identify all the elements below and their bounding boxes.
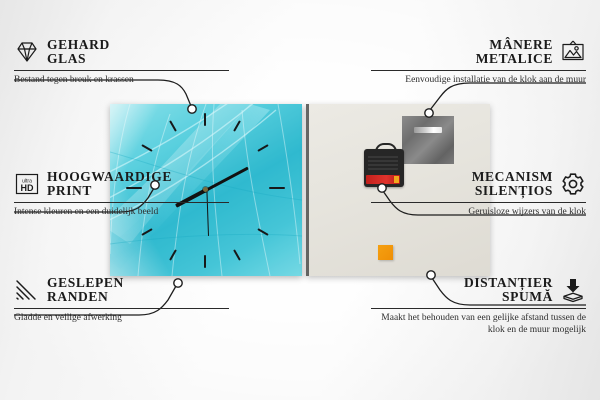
- feature-description: Maakt het behouden van een gelijke afsta…: [371, 312, 586, 337]
- ultra-hd-icon: ultra HD: [14, 171, 40, 197]
- clock-tick: [204, 113, 206, 126]
- feature-geslepen-randen: GESLEPENRANDEN Gladde en veilige afwerki…: [14, 276, 229, 324]
- feature-title: MECANISMSILENȚIOS: [472, 170, 553, 199]
- feature-gehard-glas: GEHARDGLAS Bestand tegen breuk en krasse…: [14, 38, 229, 86]
- beveled-edge-icon: [14, 277, 40, 303]
- infographic-canvas: GEHARDGLAS Bestand tegen breuk en krasse…: [0, 0, 600, 400]
- picture-frame-icon: [560, 39, 586, 65]
- feature-description: Bestand tegen breuk en krassen: [14, 74, 229, 87]
- divider: [14, 70, 229, 71]
- svg-text:HD: HD: [21, 183, 34, 193]
- feature-description: Eenvoudige installatie van de klok aan d…: [371, 74, 586, 87]
- mechanism-body: [368, 154, 398, 170]
- feature-header: ultra HD HOOGWAARDIGEPRINT: [14, 170, 229, 199]
- feature-header: GESLEPENRANDEN: [14, 276, 229, 305]
- feature-description: Geruisloze wijzers van de klok: [371, 206, 586, 219]
- gear-icon: [560, 171, 586, 197]
- diamond-icon: [14, 39, 40, 65]
- hanger-slot: [414, 127, 442, 133]
- metal-hanger-plate: [402, 116, 454, 164]
- feature-manere-metalice: MÂNEREMETALICE Eenvoudige installatie va…: [371, 38, 586, 86]
- clock-tick: [269, 187, 285, 189]
- feature-mecanism-silentios: MECANISMSILENȚIOS Geruisloze wijzers van…: [371, 170, 586, 218]
- feature-description: Intense kleuren en een duidelijk beeld: [14, 206, 229, 219]
- glass-edge: [306, 104, 309, 276]
- feature-description: Gladde en veilige afwerking: [14, 312, 229, 325]
- feature-header: GEHARDGLAS: [14, 38, 229, 67]
- foam-spacer-pad: [378, 245, 393, 260]
- spacer-press-icon: [560, 277, 586, 303]
- hanger-loop: [375, 143, 397, 154]
- feature-header: MECANISMSILENȚIOS: [371, 170, 586, 199]
- divider: [371, 202, 586, 203]
- feature-header: DISTANȚIERSPUMĂ: [371, 276, 586, 305]
- divider: [14, 308, 229, 309]
- feature-title: HOOGWAARDIGEPRINT: [47, 170, 172, 199]
- feature-title: MÂNEREMETALICE: [476, 38, 553, 67]
- divider: [14, 202, 229, 203]
- feature-title: GESLEPENRANDEN: [47, 276, 124, 305]
- feature-hoogwaardige-print: ultra HD HOOGWAARDIGEPRINT Intense kleur…: [14, 170, 229, 218]
- feature-title: GEHARDGLAS: [47, 38, 110, 67]
- divider: [371, 308, 586, 309]
- feature-header: MÂNEREMETALICE: [371, 38, 586, 67]
- feature-distantier-spuma: DISTANȚIERSPUMĂ Maakt het behouden van e…: [371, 276, 586, 337]
- clock-tick: [204, 255, 206, 268]
- divider: [371, 70, 586, 71]
- feature-title: DISTANȚIERSPUMĂ: [464, 276, 553, 305]
